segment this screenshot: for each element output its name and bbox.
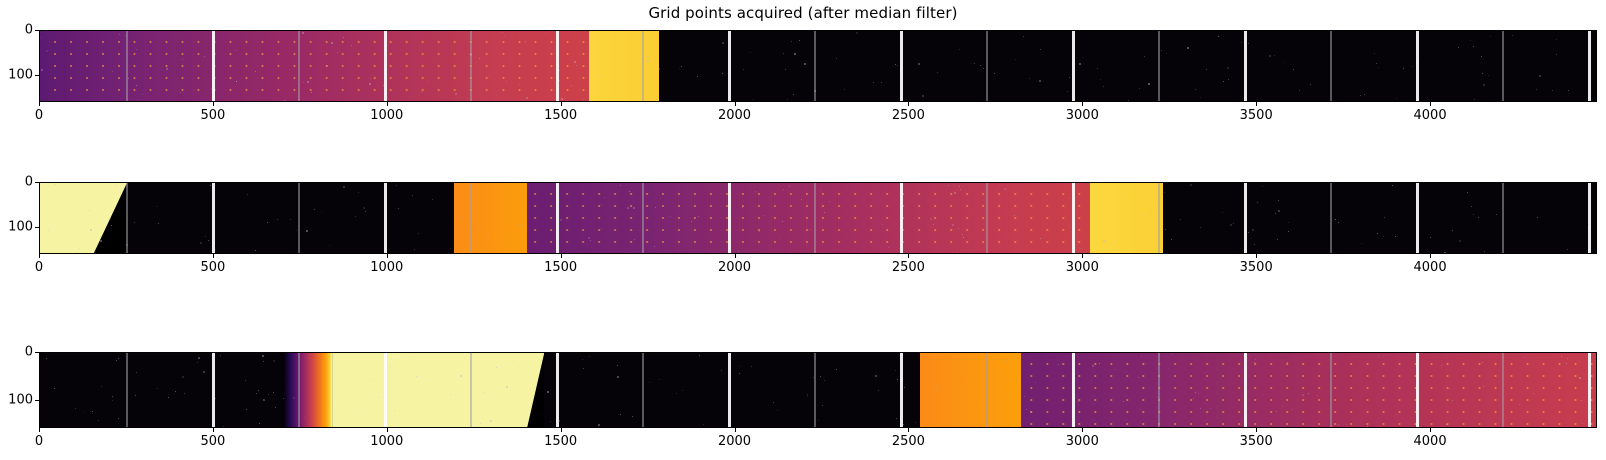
region-1-0 <box>40 31 123 101</box>
x-tick <box>387 254 388 258</box>
x-tick-label: 1000 <box>370 108 403 123</box>
region-1-4 <box>589 31 659 101</box>
x-tick <box>387 102 388 106</box>
x-tick-label: 0 <box>35 108 43 123</box>
x-tick-label: 4000 <box>1414 260 1447 275</box>
y-tick <box>35 400 39 401</box>
region-3-6 <box>1153 353 1362 427</box>
x-tick <box>1256 102 1257 106</box>
y-tick-label: 100 <box>0 392 33 407</box>
x-tick <box>1256 254 1257 258</box>
x-tick-label: 2000 <box>718 260 751 275</box>
x-tick <box>39 254 40 258</box>
x-tick <box>1082 428 1083 432</box>
x-tick-label: 1000 <box>370 434 403 449</box>
page-title: Grid points acquired (after median filte… <box>0 4 1606 22</box>
region-2-1 <box>127 183 454 253</box>
x-tick <box>908 254 909 258</box>
x-tick <box>1256 428 1257 432</box>
region-2-8 <box>1163 183 1597 253</box>
region-3-3 <box>544 353 920 427</box>
x-tick <box>561 102 562 106</box>
x-tick-label: 3500 <box>1240 108 1273 123</box>
heatmap-image-2 <box>40 183 1596 253</box>
x-tick-label: 3500 <box>1240 260 1273 275</box>
y-tick-label: 100 <box>0 220 33 235</box>
x-tick-label: 1500 <box>544 260 577 275</box>
x-tick <box>908 102 909 106</box>
region-2-4 <box>652 183 840 253</box>
x-tick <box>213 102 214 106</box>
region-3-7 <box>1362 353 1597 427</box>
region-3-0 <box>40 353 283 427</box>
heatmap-image-3 <box>40 353 1596 427</box>
figure-canvas: Grid points acquired (after median filte… <box>0 0 1606 460</box>
x-tick-label: 500 <box>200 108 225 123</box>
x-tick-label: 0 <box>35 260 43 275</box>
x-tick-label: 3000 <box>1066 108 1099 123</box>
x-tick-label: 500 <box>200 260 225 275</box>
x-tick-label: 2500 <box>892 260 925 275</box>
y-tick <box>35 75 39 76</box>
x-tick <box>908 428 909 432</box>
region-3-2 <box>332 353 544 427</box>
x-tick-label: 1500 <box>544 434 577 449</box>
x-tick <box>561 428 562 432</box>
x-tick-label: 2000 <box>718 108 751 123</box>
x-tick-label: 0 <box>35 434 43 449</box>
region-2-0 <box>40 183 127 253</box>
x-tick-label: 3000 <box>1066 434 1099 449</box>
region-2-6 <box>1014 183 1091 253</box>
x-tick-label: 2500 <box>892 108 925 123</box>
x-tick <box>735 254 736 258</box>
axes-frame-3 <box>39 352 1597 428</box>
region-1-5 <box>659 31 1597 101</box>
x-tick <box>1430 254 1431 258</box>
region-3-4 <box>920 353 1021 427</box>
heatmap-image-1 <box>40 31 1596 101</box>
x-tick <box>1430 102 1431 106</box>
x-tick <box>561 254 562 258</box>
y-tick <box>35 352 39 353</box>
region-2-5 <box>840 183 1014 253</box>
y-tick-label: 0 <box>0 175 33 190</box>
region-3-5 <box>1021 353 1153 427</box>
x-tick-label: 2000 <box>718 434 751 449</box>
x-tick <box>735 428 736 432</box>
x-tick <box>39 102 40 106</box>
x-tick <box>387 428 388 432</box>
x-tick <box>735 102 736 106</box>
plot-axes-3 <box>39 352 1597 428</box>
x-tick-label: 4000 <box>1414 108 1447 123</box>
y-tick <box>35 182 39 183</box>
x-tick <box>1082 102 1083 106</box>
axes-frame-1 <box>39 30 1597 102</box>
region-1-2 <box>304 31 495 101</box>
x-tick <box>213 254 214 258</box>
y-tick <box>35 227 39 228</box>
region-2-7 <box>1090 183 1163 253</box>
region-2-3 <box>527 183 652 253</box>
y-tick-label: 0 <box>0 345 33 360</box>
x-tick-label: 1500 <box>544 108 577 123</box>
x-tick-label: 500 <box>200 434 225 449</box>
region-1-3 <box>496 31 590 101</box>
y-tick <box>35 30 39 31</box>
x-tick-label: 4000 <box>1414 434 1447 449</box>
axes-frame-2 <box>39 182 1597 254</box>
x-tick <box>39 428 40 432</box>
plot-axes-1 <box>39 30 1597 102</box>
region-2-2 <box>454 183 527 253</box>
x-tick-label: 2500 <box>892 434 925 449</box>
x-tick-label: 3000 <box>1066 260 1099 275</box>
x-tick-label: 3500 <box>1240 434 1273 449</box>
y-tick-label: 100 <box>0 68 33 83</box>
y-tick-label: 0 <box>0 23 33 38</box>
plot-axes-2 <box>39 182 1597 254</box>
region-1-1 <box>123 31 304 101</box>
x-tick <box>1430 428 1431 432</box>
x-tick-label: 1000 <box>370 260 403 275</box>
x-tick <box>1082 254 1083 258</box>
x-tick <box>213 428 214 432</box>
region-3-1 <box>283 353 332 427</box>
